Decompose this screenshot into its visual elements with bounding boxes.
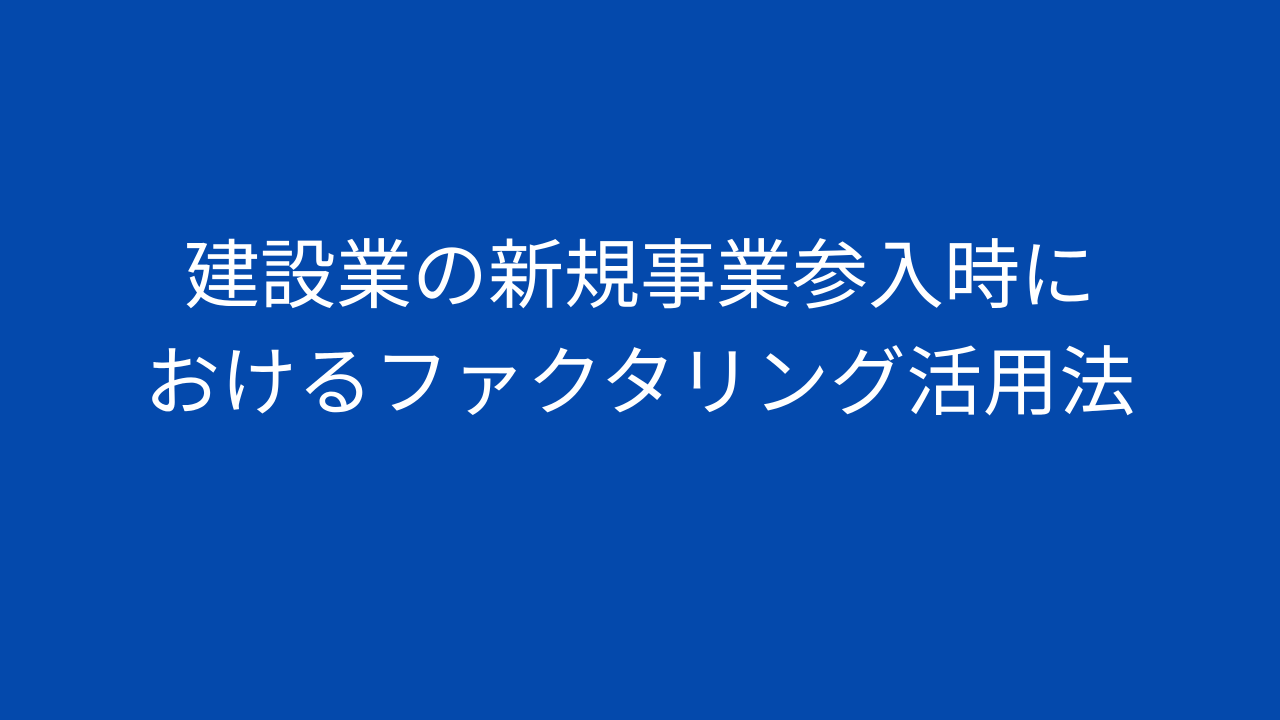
- title-slide: 建設業の新規事業参入時に おけるファクタリング活用法: [0, 0, 1280, 720]
- title-line-2: おけるファクタリング活用法: [0, 329, 1280, 436]
- title-block: 建設業の新規事業参入時に おけるファクタリング活用法: [0, 222, 1280, 436]
- title-line-1: 建設業の新規事業参入時に: [0, 222, 1280, 329]
